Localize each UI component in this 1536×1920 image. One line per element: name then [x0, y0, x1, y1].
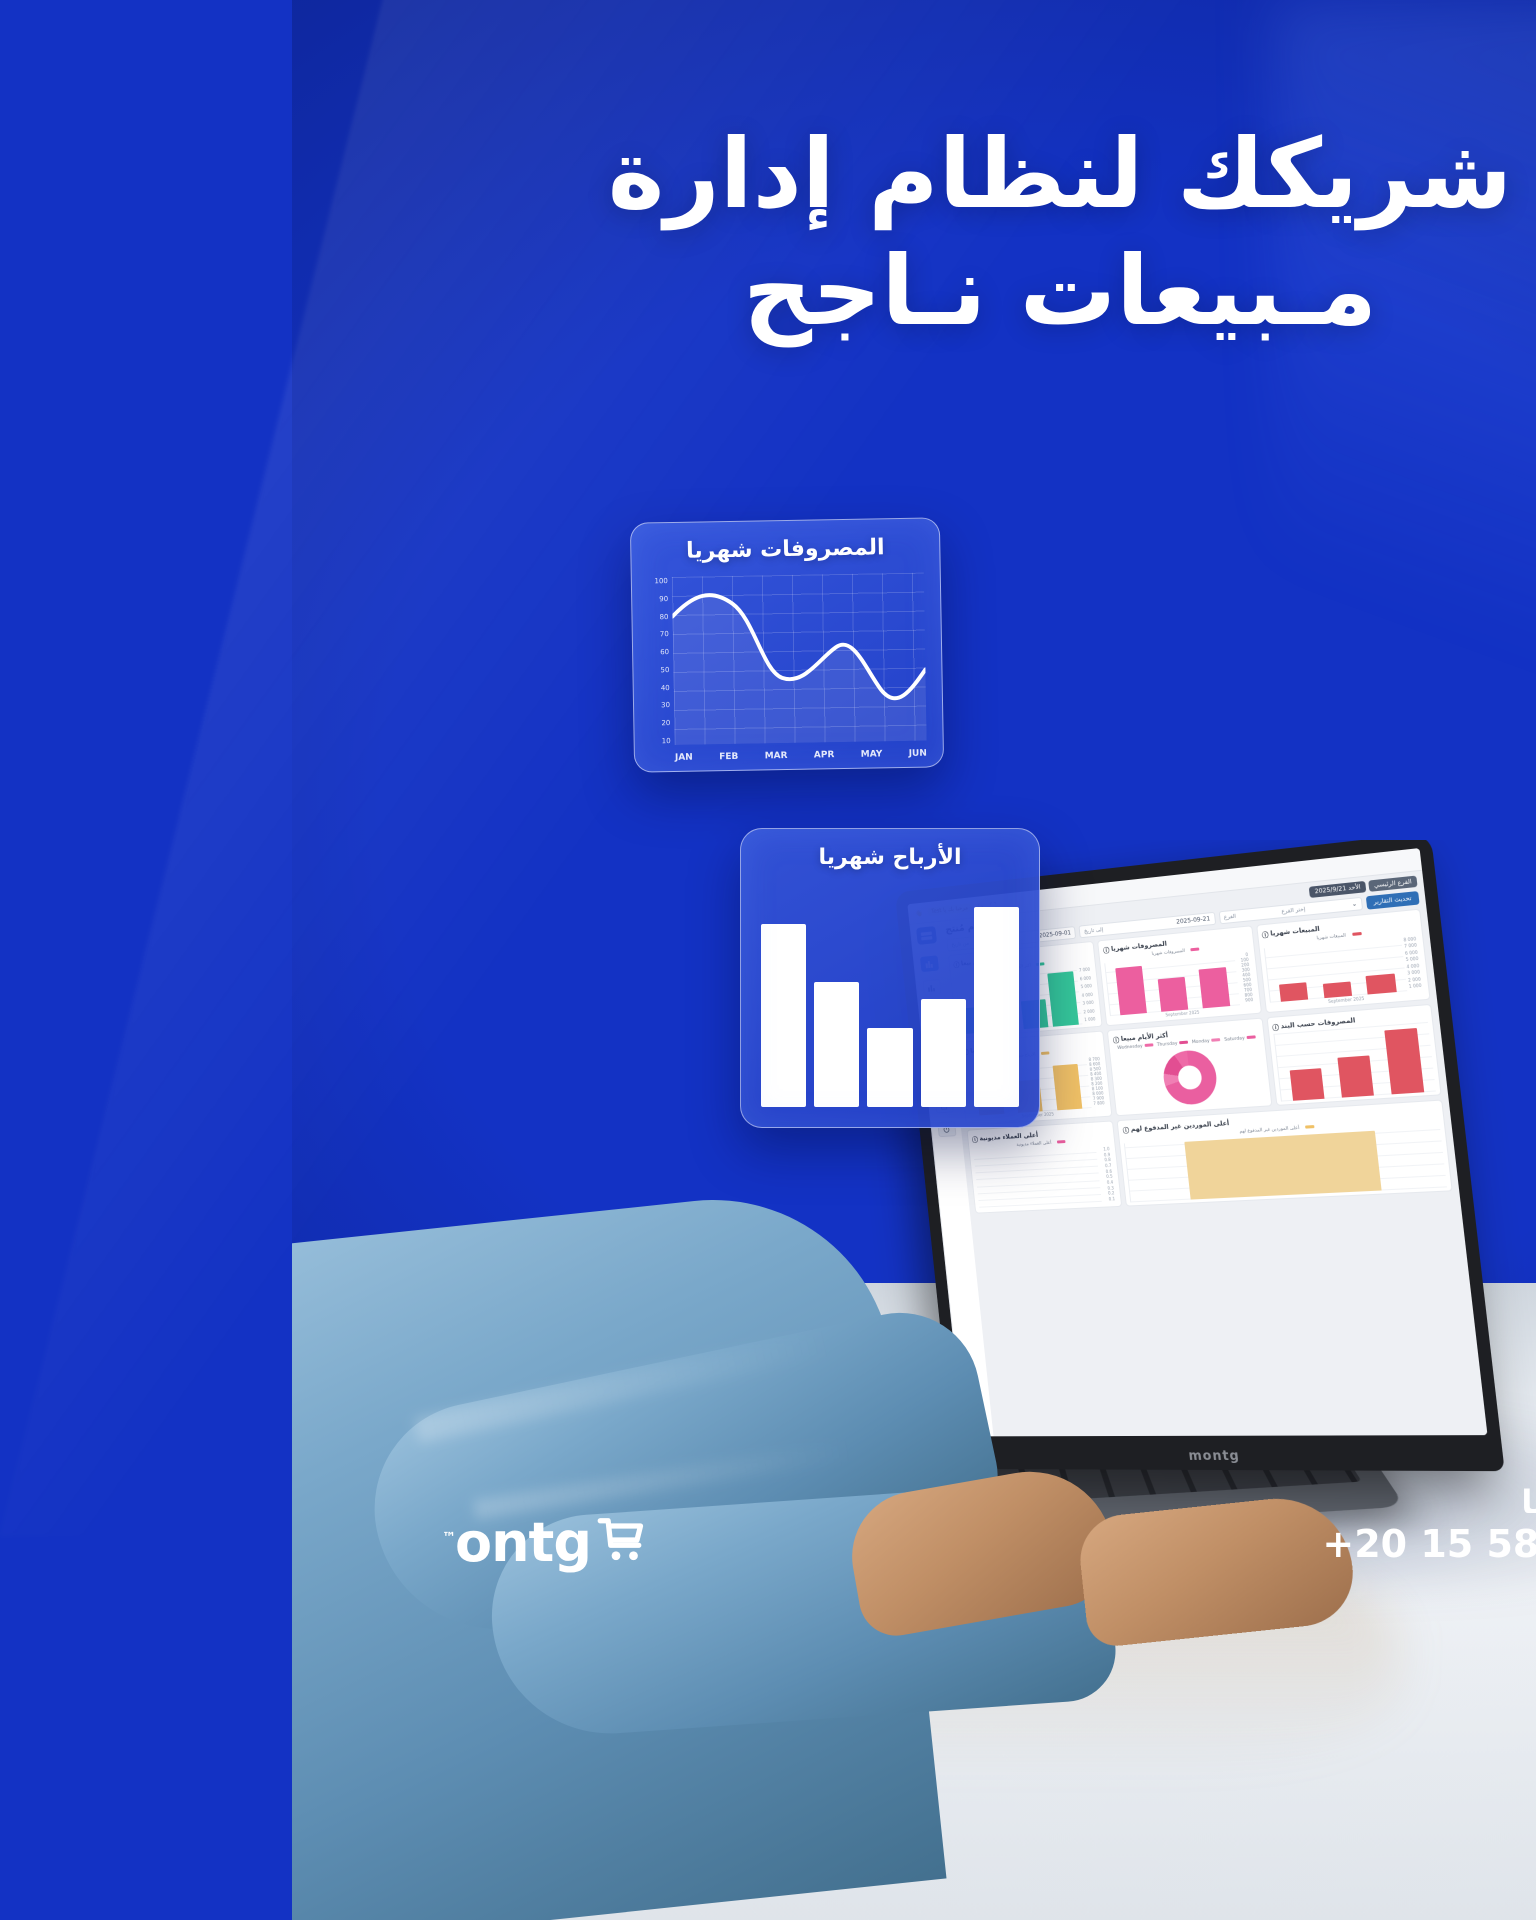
x-tick: APR — [522, 750, 543, 760]
floating-card-monthly-profits: الأرباح شهريا — [448, 828, 748, 1128]
card-expenses-by-item: المصروفات حسب البندⓘ — [974, 1004, 1150, 1106]
bar — [893, 1131, 1090, 1199]
headline-line-1: شريكك لنظام إدارة — [80, 118, 1456, 231]
bar — [629, 999, 674, 1107]
headline: شريكك لنظام إدارة مـبيعات نـاجح — [0, 118, 1536, 349]
line-chart-y-axis: 100908070605040302010 — [354, 577, 379, 745]
card-top-selling-days: أكثر الأيام مبيعاⓘ Saturday Monday Thurs… — [815, 1018, 980, 1117]
contact-label: تواصل معنا — [1030, 1482, 1406, 1522]
brand-logo: ontg™ — [150, 1512, 359, 1568]
floating-card-title: الأرباح شهريا — [449, 829, 747, 876]
bar — [1092, 1028, 1132, 1094]
bar-group — [813, 951, 948, 1016]
bar — [1045, 1056, 1082, 1098]
bar — [575, 1028, 620, 1107]
profit-bar-group — [469, 899, 727, 1107]
info-icon: ⓘ — [980, 1021, 988, 1032]
contact-block: تواصل معنا +20 15 58963005 — [1030, 1482, 1406, 1568]
branch-select-value: إختر الفرع — [989, 906, 1014, 914]
line-chart-plot — [380, 573, 635, 745]
floating-card-title: المصروفات شهريا — [339, 518, 648, 570]
info-icon: ⓘ — [969, 929, 977, 940]
card-monthly-sales: المبيعات شهرياⓘ المبيعات شهريا — [964, 909, 1139, 1014]
bar — [907, 967, 938, 1008]
date-chip: الأحد 2025/9/21 — [1017, 881, 1074, 898]
card-title-text: أكثر الأيام مبيعا — [828, 1031, 876, 1043]
card-top-debtor-clients: أعلى العملاء مديونيةⓘ أعلى العملاء مديون… — [675, 1120, 831, 1213]
contact-phone[interactable]: +20 15 58963005 — [1030, 1522, 1406, 1568]
refresh-reports-button[interactable]: تحديث التقارير — [1074, 891, 1128, 910]
info-icon: ⓘ — [679, 1134, 686, 1144]
bar — [866, 976, 896, 1011]
shopping-cart-icon — [303, 1512, 359, 1568]
branch-chip: الفرع الرئيسي — [1076, 876, 1125, 892]
bar-group — [981, 1022, 1144, 1102]
x-tick: JUN — [617, 749, 635, 759]
empty-rows — [681, 1145, 810, 1210]
date-from-value: 2025-09-01 — [747, 929, 780, 939]
x-tick: MAY — [569, 749, 591, 759]
photo-scene: مرحبا بك يا Test 👋 — [0, 840, 1536, 1920]
bar — [469, 924, 514, 1107]
card-top-unpaid-suppliers: أعلى الموردين غير المدفوع لهمⓘ أعلى المو… — [825, 1099, 1161, 1206]
bar — [760, 1063, 790, 1110]
bar-group — [971, 935, 1115, 1002]
bar — [987, 982, 1017, 1002]
info-icon: ⓘ — [811, 944, 818, 954]
expenses-line-path — [380, 573, 635, 745]
floating-card-monthly-expenses: المصروفات شهريا 100908070605040302010 JA… — [338, 517, 652, 772]
bar — [1030, 981, 1060, 998]
bar — [824, 966, 855, 1015]
bar — [1074, 973, 1105, 994]
headline-line-2: مـبيعات نـاجح — [80, 235, 1456, 348]
bar — [682, 907, 727, 1107]
date-to-value: 2025-09-21 — [884, 915, 919, 925]
trademark-symbol: ™ — [150, 1530, 163, 1546]
date-to-label: إلى تاريخ — [792, 927, 812, 935]
card-title-text: أعلى العملاء مديونية — [687, 1131, 746, 1142]
x-tick: JAN — [383, 753, 401, 763]
brand-name: ontg™ — [150, 1519, 299, 1568]
info-icon: ⓘ — [820, 1034, 827, 1044]
line-chart-x-axis: JAN FEB MAR APR MAY JUN — [383, 749, 635, 763]
branch-select-label: الفرع — [932, 913, 945, 920]
laptop-brand-text: montg — [661, 1449, 1212, 1465]
x-tick: MAR — [473, 751, 496, 761]
donut-chart — [868, 1049, 926, 1106]
bar — [997, 1068, 1032, 1101]
bar — [755, 971, 786, 1027]
info-icon: ⓘ — [830, 1124, 837, 1134]
chevron-down-icon: ⌄ — [1059, 900, 1065, 908]
x-tick: FEB — [427, 752, 446, 762]
bar — [522, 982, 567, 1107]
card-monthly-expenses: المصروفات شهرياⓘ المصروفات شهريا — [805, 925, 969, 1026]
